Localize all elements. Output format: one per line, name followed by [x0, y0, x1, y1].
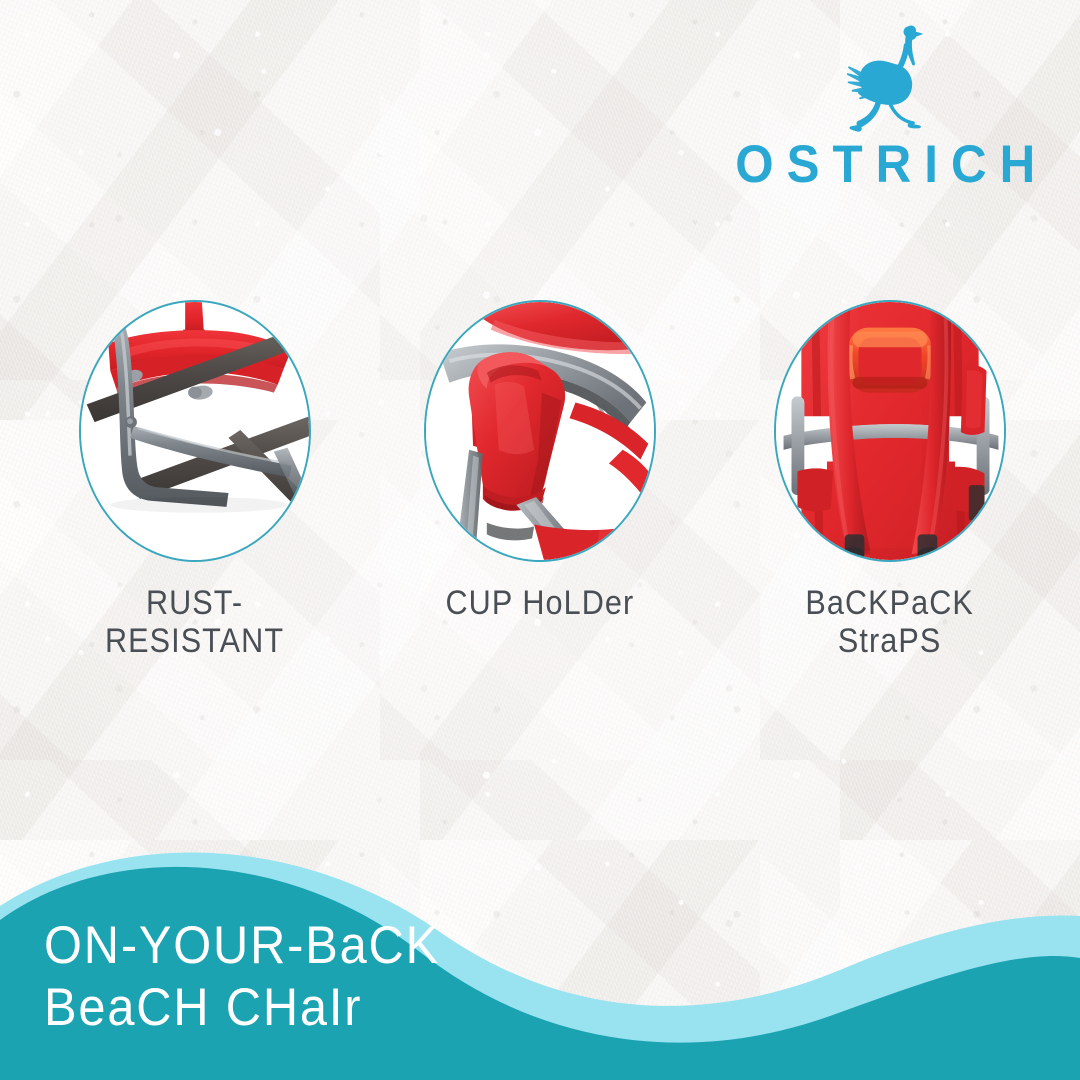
feature-image-backpack-straps	[774, 300, 1006, 562]
banner-title: ON-YOUR-BaCK BeaCH CHaIr	[44, 915, 440, 1038]
ostrich-bird-icon	[825, 20, 945, 132]
feature-highlights: RUST- RESISTANT	[0, 300, 1080, 700]
feature-item-backpack-straps: BaCKPaCK StraPS	[740, 300, 1040, 660]
brand-name: OSTRICH	[722, 138, 1048, 191]
brand-block: OSTRICH	[700, 20, 1070, 191]
feature-image-cup-holder	[424, 300, 656, 562]
feature-label-backpack-straps: BaCKPaCK StraPS	[806, 584, 975, 660]
feature-item-cup-holder: CUP HoLDer	[390, 300, 690, 622]
feature-label-cup-holder: CUP HoLDer	[446, 584, 635, 622]
wave-banner: ON-YOUR-BaCK BeaCH CHaIr	[0, 820, 1080, 1080]
feature-image-rust-resistant	[79, 300, 311, 562]
feature-label-rust-resistant: RUST- RESISTANT	[105, 584, 284, 660]
product-feature-poster: OSTRICH	[0, 0, 1080, 1080]
feature-item-rust-resistant: RUST- RESISTANT	[45, 300, 345, 660]
